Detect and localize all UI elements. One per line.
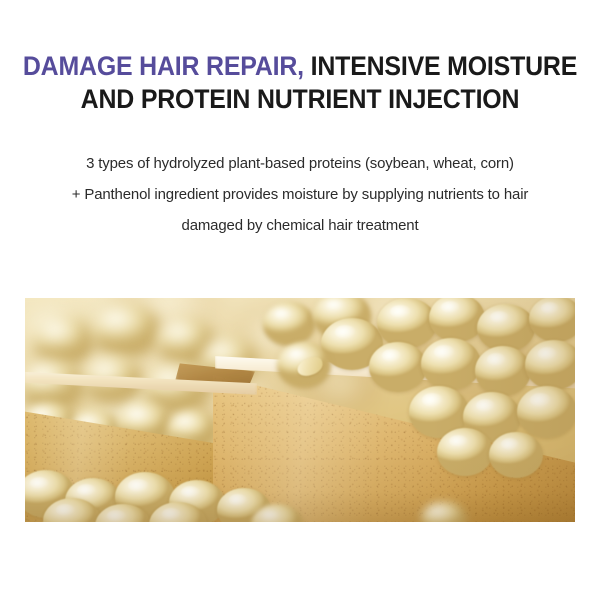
bean: [377, 298, 437, 348]
bean: [489, 432, 543, 478]
headline-accent-text: DAMAGE HAIR REPAIR,: [23, 51, 304, 81]
bean: [475, 346, 531, 396]
bean: [263, 302, 315, 346]
bean: [33, 316, 95, 366]
product-detail-page: DAMAGE HAIR REPAIR, INTENSIVE MOISTURE A…: [0, 0, 600, 600]
description-text: 3 types of hydrolyzed plant-based protei…: [0, 148, 600, 241]
bean: [369, 342, 427, 392]
headline-line-1: DAMAGE HAIR REPAIR, INTENSIVE MOISTURE: [18, 50, 582, 83]
bean: [477, 304, 535, 352]
bean: [421, 338, 481, 390]
bean: [91, 304, 161, 358]
page-title: DAMAGE HAIR REPAIR, INTENSIVE MOISTURE A…: [0, 50, 600, 116]
bean: [517, 386, 575, 438]
photo-inner: [25, 298, 575, 522]
description-line-2: + Panthenol ingredient provides moisture…: [5, 179, 596, 210]
headline-line-1-rest: INTENSIVE MOISTURE: [304, 51, 577, 81]
bean: [437, 428, 493, 476]
bean: [525, 340, 575, 390]
soybean-product-photo: [25, 298, 575, 522]
description-line-3: damaged by chemical hair treatment: [5, 210, 596, 241]
headline-line-2: AND PROTEIN NUTRIENT INJECTION: [18, 83, 582, 116]
description-line-1: 3 types of hydrolyzed plant-based protei…: [5, 148, 596, 179]
